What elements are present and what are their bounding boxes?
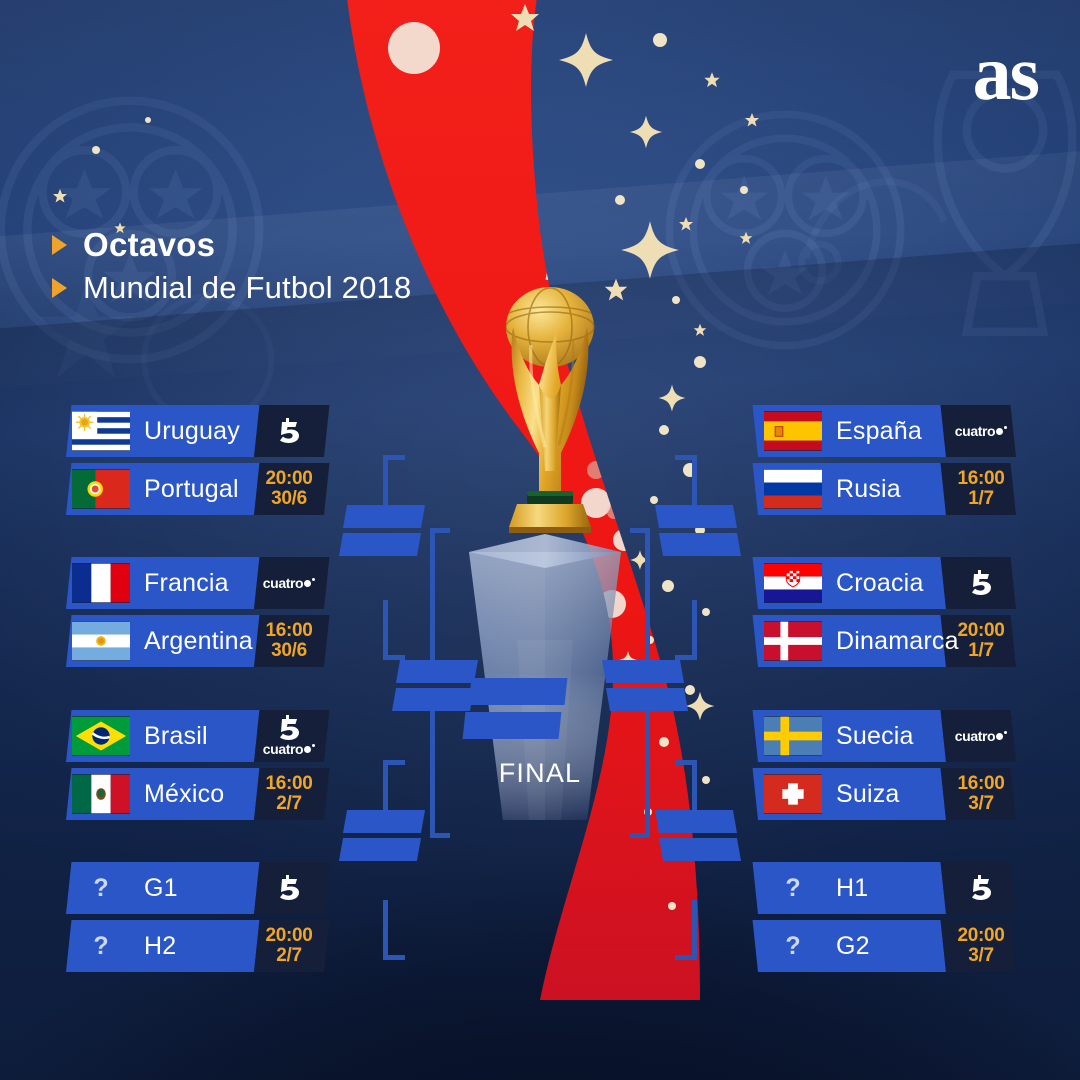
team-name: España bbox=[822, 417, 932, 446]
bracket-connector bbox=[430, 528, 435, 666]
team-cell: España bbox=[758, 405, 946, 457]
team-flag-spain-flag bbox=[764, 411, 822, 451]
team-cell: México bbox=[66, 768, 254, 820]
bracket-connector bbox=[383, 900, 388, 960]
team-flag-argentina-flag bbox=[72, 621, 130, 661]
match-row-bottom[interactable]: Dinamarca 20:00 1/7 bbox=[758, 615, 1016, 667]
match-time: 20:00 bbox=[265, 926, 312, 946]
bracket-slot-sf bbox=[396, 660, 478, 683]
team-name: Portugal bbox=[130, 475, 249, 504]
team-cell: Brasil bbox=[66, 710, 254, 762]
channel-cell: cuatro bbox=[946, 710, 1016, 762]
bracket-slot-qf bbox=[343, 810, 425, 833]
bracket-slot-qf bbox=[343, 505, 425, 528]
team-flag-mexico-flag bbox=[72, 774, 130, 814]
team-placeholder-icon: ? bbox=[764, 868, 822, 908]
match-row-bottom[interactable]: Argentina 16:00 30/6 bbox=[66, 615, 324, 667]
channel-logos: cuatro bbox=[263, 576, 315, 591]
bracket-slot-final bbox=[469, 678, 568, 705]
bracket-slot-qf bbox=[339, 838, 421, 861]
match-time: 20:00 bbox=[957, 621, 1004, 641]
team-cell: Suiza bbox=[758, 768, 946, 820]
match-row-bottom[interactable]: Suiza 16:00 3/7 bbox=[758, 768, 1016, 820]
team-name: Croacia bbox=[822, 569, 934, 598]
channel-cell: cuatro bbox=[946, 405, 1016, 457]
channel-cell bbox=[946, 862, 1016, 914]
triangle-bullet-icon bbox=[52, 278, 67, 298]
kickoff-info: 20:00 1/7 bbox=[957, 621, 1004, 661]
kickoff-cell: 16:00 2/7 bbox=[254, 768, 324, 820]
channel-logos bbox=[274, 875, 304, 901]
channel-logos bbox=[274, 418, 304, 444]
channel-logos bbox=[966, 875, 996, 901]
telecinco-logo-icon bbox=[263, 715, 315, 741]
team-name: Suecia bbox=[822, 722, 924, 751]
match-time: 20:00 bbox=[265, 469, 312, 489]
team-name: Suiza bbox=[822, 780, 910, 809]
match-date: 3/7 bbox=[957, 794, 1004, 814]
team-cell: ? G2 bbox=[758, 920, 946, 972]
match-time: 16:00 bbox=[957, 774, 1004, 794]
team-name: Dinamarca bbox=[822, 627, 969, 656]
match-row-top[interactable]: Brasil cuatro bbox=[66, 710, 324, 762]
kickoff-cell: 16:00 1/7 bbox=[946, 463, 1016, 515]
team-cell: ? G1 bbox=[66, 862, 254, 914]
match-francia-argentina[interactable]: Francia cuatro Argentina bbox=[66, 557, 324, 667]
channel-cell bbox=[254, 405, 324, 457]
match-row-top[interactable]: Croacia bbox=[758, 557, 1016, 609]
telecinco-logo-icon bbox=[274, 875, 304, 901]
team-flag-sweden-flag bbox=[764, 716, 822, 756]
team-cell: Portugal bbox=[66, 463, 254, 515]
team-cell: ? H1 bbox=[758, 862, 946, 914]
kickoff-cell: 16:00 30/6 bbox=[254, 615, 324, 667]
cuatro-logo-icon: cuatro bbox=[263, 576, 315, 591]
match-date: 2/7 bbox=[265, 946, 312, 966]
team-name: Brasil bbox=[130, 722, 218, 751]
title-sub-row: Mundial de Futbol 2018 bbox=[52, 270, 411, 306]
bracket-slot-final bbox=[463, 712, 562, 739]
match-date: 1/7 bbox=[957, 489, 1004, 509]
channel-cell: cuatro bbox=[254, 557, 324, 609]
team-cell: Suecia bbox=[758, 710, 946, 762]
bracket-connector bbox=[692, 600, 697, 660]
bracket-connector bbox=[675, 455, 697, 460]
match-row-bottom[interactable]: ? G2 20:00 3/7 bbox=[758, 920, 1016, 972]
team-flag-brazil-flag bbox=[72, 716, 130, 756]
bracket-slot-sf bbox=[392, 688, 474, 711]
match-g1-h2[interactable]: ? G1 ? H2 20:0 bbox=[66, 862, 324, 972]
bracket-connector bbox=[383, 955, 405, 960]
telecinco-logo-icon bbox=[274, 418, 304, 444]
bracket-slot-qf bbox=[659, 533, 741, 556]
match-row-top[interactable]: Uruguay bbox=[66, 405, 324, 457]
team-flag-uruguay-flag bbox=[72, 411, 130, 451]
match-row-bottom[interactable]: México 16:00 2/7 bbox=[66, 768, 324, 820]
team-flag-croatia-flag bbox=[764, 563, 822, 603]
cuatro-logo-icon: cuatro bbox=[955, 729, 1007, 744]
kickoff-info: 16:00 30/6 bbox=[265, 621, 312, 661]
match-croacia-dinamarca[interactable]: Croacia Dinamarca 20 bbox=[758, 557, 1016, 667]
team-name: Argentina bbox=[130, 627, 263, 656]
match-h1-g2[interactable]: ? H1 ? G2 20:0 bbox=[758, 862, 1016, 972]
match-brasil-mexico[interactable]: Brasil cuatro México bbox=[66, 710, 324, 820]
title-block: Octavos Mundial de Futbol 2018 bbox=[52, 226, 411, 312]
match-time: 20:00 bbox=[957, 926, 1004, 946]
match-time: 16:00 bbox=[265, 774, 312, 794]
team-placeholder-icon: ? bbox=[72, 926, 130, 966]
bracket-connector bbox=[675, 760, 697, 765]
bracket-connector bbox=[630, 528, 650, 533]
team-cell: Rusia bbox=[758, 463, 946, 515]
team-name: G1 bbox=[130, 874, 188, 903]
bracket-connector bbox=[430, 528, 450, 533]
bracket-connector bbox=[430, 700, 435, 838]
kickoff-cell: 16:00 3/7 bbox=[946, 768, 1016, 820]
match-date: 2/7 bbox=[265, 794, 312, 814]
bracket-connector bbox=[675, 955, 697, 960]
telecinco-logo-icon bbox=[966, 570, 996, 596]
team-name: Uruguay bbox=[130, 417, 250, 446]
title-main-row: Octavos bbox=[52, 226, 411, 264]
bracket-slot-sf bbox=[602, 660, 684, 683]
kickoff-info: 20:00 3/7 bbox=[957, 926, 1004, 966]
match-date: 30/6 bbox=[265, 641, 312, 661]
bracket-slot-sf bbox=[606, 688, 688, 711]
telecinco-logo-icon bbox=[966, 875, 996, 901]
match-row-bottom[interactable]: ? H2 20:00 2/7 bbox=[66, 920, 324, 972]
bracket-connector bbox=[630, 833, 650, 838]
telecinco-logo-icon bbox=[966, 570, 996, 596]
match-row-top[interactable]: Suecia cuatro bbox=[758, 710, 1016, 762]
team-name: Rusia bbox=[822, 475, 911, 504]
match-date: 3/7 bbox=[957, 946, 1004, 966]
team-name: H1 bbox=[822, 874, 878, 903]
kickoff-cell: 20:00 2/7 bbox=[254, 920, 324, 972]
page-subtitle: Mundial de Futbol 2018 bbox=[83, 270, 411, 306]
bracket-slot-qf bbox=[339, 533, 421, 556]
team-cell: Croacia bbox=[758, 557, 946, 609]
bracket-slot-qf bbox=[655, 505, 737, 528]
kickoff-info: 20:00 30/6 bbox=[265, 469, 312, 509]
match-time: 16:00 bbox=[265, 621, 312, 641]
bracket-connector bbox=[383, 760, 405, 765]
telecinco-logo-icon bbox=[274, 418, 304, 444]
team-name: México bbox=[130, 780, 234, 809]
team-flag-russia-flag bbox=[764, 469, 822, 509]
kickoff-info: 16:00 2/7 bbox=[265, 774, 312, 814]
team-flag-switzerland-flag bbox=[764, 774, 822, 814]
team-flag-denmark-flag bbox=[764, 621, 822, 661]
match-row-bottom[interactable]: Rusia 16:00 1/7 bbox=[758, 463, 1016, 515]
team-cell: Francia bbox=[66, 557, 254, 609]
match-date: 1/7 bbox=[957, 641, 1004, 661]
kickoff-info: 16:00 1/7 bbox=[957, 469, 1004, 509]
infographic-root: as Octavos Mundial de Futbol 2018 bbox=[0, 0, 1080, 1080]
match-date: 30/6 bbox=[265, 489, 312, 509]
telecinco-logo-icon bbox=[274, 715, 304, 741]
team-name: G2 bbox=[822, 932, 880, 961]
bracket-connector bbox=[383, 455, 405, 460]
cuatro-logo-icon: cuatro bbox=[955, 424, 1007, 439]
team-flag-portugal-flag bbox=[72, 469, 130, 509]
kickoff-info: 20:00 2/7 bbox=[265, 926, 312, 966]
telecinco-logo-icon bbox=[966, 875, 996, 901]
match-row-top[interactable]: Francia cuatro bbox=[66, 557, 324, 609]
bracket-slot-qf bbox=[659, 838, 741, 861]
bracket-connector bbox=[645, 528, 650, 666]
bracket-slot-qf bbox=[655, 810, 737, 833]
bracket-connector bbox=[645, 700, 650, 838]
match-row-top[interactable]: ? H1 bbox=[758, 862, 1016, 914]
telecinco-logo-icon bbox=[274, 875, 304, 901]
match-row-top[interactable]: España cuatro bbox=[758, 405, 1016, 457]
channel-logos: cuatro bbox=[955, 729, 1007, 744]
bracket-connector bbox=[692, 900, 697, 960]
channel-cell bbox=[254, 862, 324, 914]
team-flag-france-flag bbox=[72, 563, 130, 603]
channel-logos bbox=[966, 570, 996, 596]
kickoff-cell: 20:00 1/7 bbox=[946, 615, 1016, 667]
match-time: 16:00 bbox=[957, 469, 1004, 489]
kickoff-cell: 20:00 30/6 bbox=[254, 463, 324, 515]
team-placeholder-icon: ? bbox=[764, 926, 822, 966]
bracket-connector bbox=[430, 833, 450, 838]
team-cell: Dinamarca bbox=[758, 615, 946, 667]
as-logo: as bbox=[973, 36, 1038, 110]
team-placeholder-icon: ? bbox=[72, 868, 130, 908]
channel-cell bbox=[946, 557, 1016, 609]
channel-logos: cuatro bbox=[263, 715, 315, 757]
team-name: H2 bbox=[130, 932, 186, 961]
channel-logos: cuatro bbox=[955, 424, 1007, 439]
page-title: Octavos bbox=[83, 226, 215, 264]
kickoff-cell: 20:00 3/7 bbox=[946, 920, 1016, 972]
team-name: Francia bbox=[130, 569, 239, 598]
match-row-top[interactable]: ? G1 bbox=[66, 862, 324, 914]
match-suecia-suiza[interactable]: Suecia cuatro Suiza 16:00 bbox=[758, 710, 1016, 820]
channel-cell: cuatro bbox=[254, 710, 324, 762]
kickoff-info: 16:00 3/7 bbox=[957, 774, 1004, 814]
cuatro-logo-icon: cuatro bbox=[263, 742, 315, 757]
match-espana-rusia[interactable]: España cuatro Rusia 16:00 bbox=[758, 405, 1016, 515]
match-row-bottom[interactable]: Portugal 20:00 30/6 bbox=[66, 463, 324, 515]
team-cell: ? H2 bbox=[66, 920, 254, 972]
team-cell: Argentina bbox=[66, 615, 254, 667]
match-uruguay-portugal[interactable]: Uruguay Portugal bbox=[66, 405, 324, 515]
bracket-connector bbox=[383, 600, 388, 660]
team-cell: Uruguay bbox=[66, 405, 254, 457]
triangle-bullet-icon bbox=[52, 235, 67, 255]
